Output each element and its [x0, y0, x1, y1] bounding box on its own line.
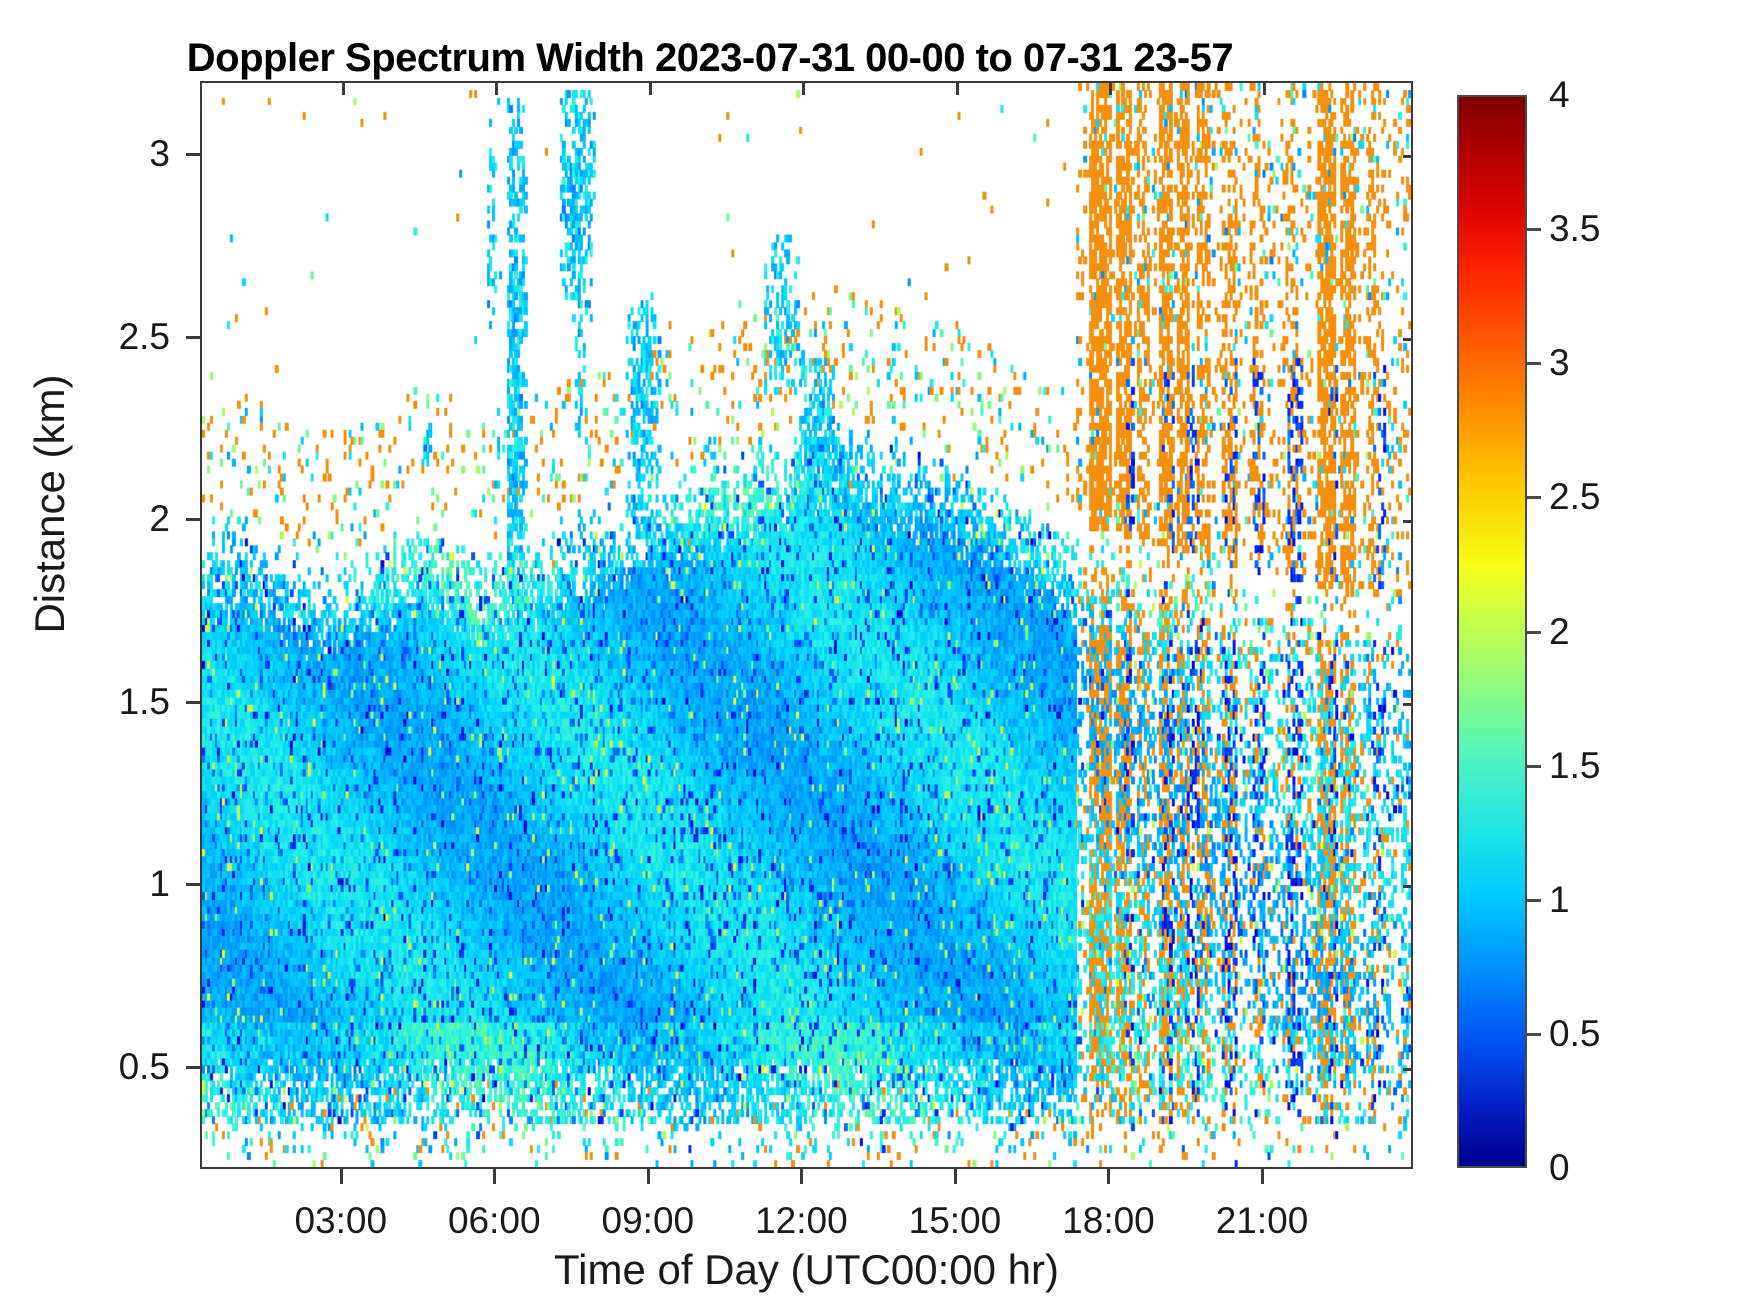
y-tick-mark: [186, 1066, 200, 1069]
heatmap-canvas: [202, 83, 1411, 1167]
colorbar-tick-label: 4: [1549, 76, 1570, 113]
y-tick-label: 3: [50, 135, 170, 172]
y-tick-mark: [186, 336, 200, 339]
y-tick-label: 1: [50, 865, 170, 902]
x-tick-label: 09:00: [568, 1202, 728, 1239]
x-tick-mark-top: [342, 83, 345, 95]
x-tick-label: 06:00: [414, 1202, 574, 1239]
x-tick-mark-top: [1109, 83, 1112, 95]
y-tick-mark-right: [1403, 1068, 1413, 1071]
x-tick-mark: [493, 1169, 496, 1184]
colorbar-tick-mark: [1527, 496, 1541, 499]
colorbar-tick-label: 3.5: [1549, 210, 1600, 247]
y-tick-label: 0.5: [50, 1048, 170, 1085]
x-tick-mark-top: [495, 83, 498, 95]
x-tick-label: 18:00: [1028, 1202, 1188, 1239]
colorbar-tick-label: 3: [1549, 344, 1570, 381]
y-tick-mark: [186, 153, 200, 156]
x-tick-label: 21:00: [1182, 1202, 1342, 1239]
x-tick-mark-top: [802, 83, 805, 95]
colorbar-tick-mark: [1527, 765, 1541, 768]
colorbar-tick-mark: [1527, 1033, 1541, 1036]
y-tick-mark-right: [1403, 703, 1413, 706]
x-tick-mark: [647, 1169, 650, 1184]
x-axis-label: Time of Day (UTC00:00 hr): [200, 1246, 1413, 1294]
colorbar-tick-label: 0: [1549, 1149, 1570, 1186]
x-tick-mark-top: [956, 83, 959, 95]
y-tick-mark: [186, 883, 200, 886]
x-tick-mark: [800, 1169, 803, 1184]
x-tick-mark-top: [649, 83, 652, 95]
x-tick-mark: [340, 1169, 343, 1184]
y-tick-mark: [186, 518, 200, 521]
x-tick-label: 03:00: [261, 1202, 421, 1239]
page-title: Doppler Spectrum Width 2023-07-31 00-00 …: [0, 36, 1420, 81]
colorbar-tick-label: 2.5: [1549, 478, 1600, 515]
x-tick-mark: [1261, 1169, 1264, 1184]
x-tick-mark: [954, 1169, 957, 1184]
colorbar-tick-mark: [1527, 631, 1541, 634]
plot-area: [200, 81, 1413, 1169]
y-axis-label: Distance (km): [26, 284, 74, 724]
figure-root: Doppler Spectrum Width 2023-07-31 00-00 …: [0, 0, 1750, 1313]
y-tick-mark-right: [1403, 885, 1413, 888]
y-tick-mark-right: [1403, 338, 1413, 341]
colorbar: 43.532.521.510.50: [1457, 95, 1527, 1168]
y-tick-mark: [186, 701, 200, 704]
x-tick-label: 15:00: [875, 1202, 1035, 1239]
colorbar-tick-mark: [1527, 362, 1541, 365]
colorbar-gradient: [1457, 95, 1527, 1168]
colorbar-tick-mark: [1527, 899, 1541, 902]
colorbar-tick-label: 1: [1549, 881, 1570, 918]
x-tick-mark-top: [1263, 83, 1266, 95]
x-tick-label: 12:00: [721, 1202, 881, 1239]
y-tick-mark-right: [1403, 155, 1413, 158]
colorbar-tick-mark: [1527, 228, 1541, 231]
x-tick-mark: [1107, 1169, 1110, 1184]
colorbar-tick-label: 1.5: [1549, 747, 1600, 784]
colorbar-tick-label: 2: [1549, 613, 1570, 650]
colorbar-tick-label: 0.5: [1549, 1015, 1600, 1052]
y-tick-mark-right: [1403, 520, 1413, 523]
